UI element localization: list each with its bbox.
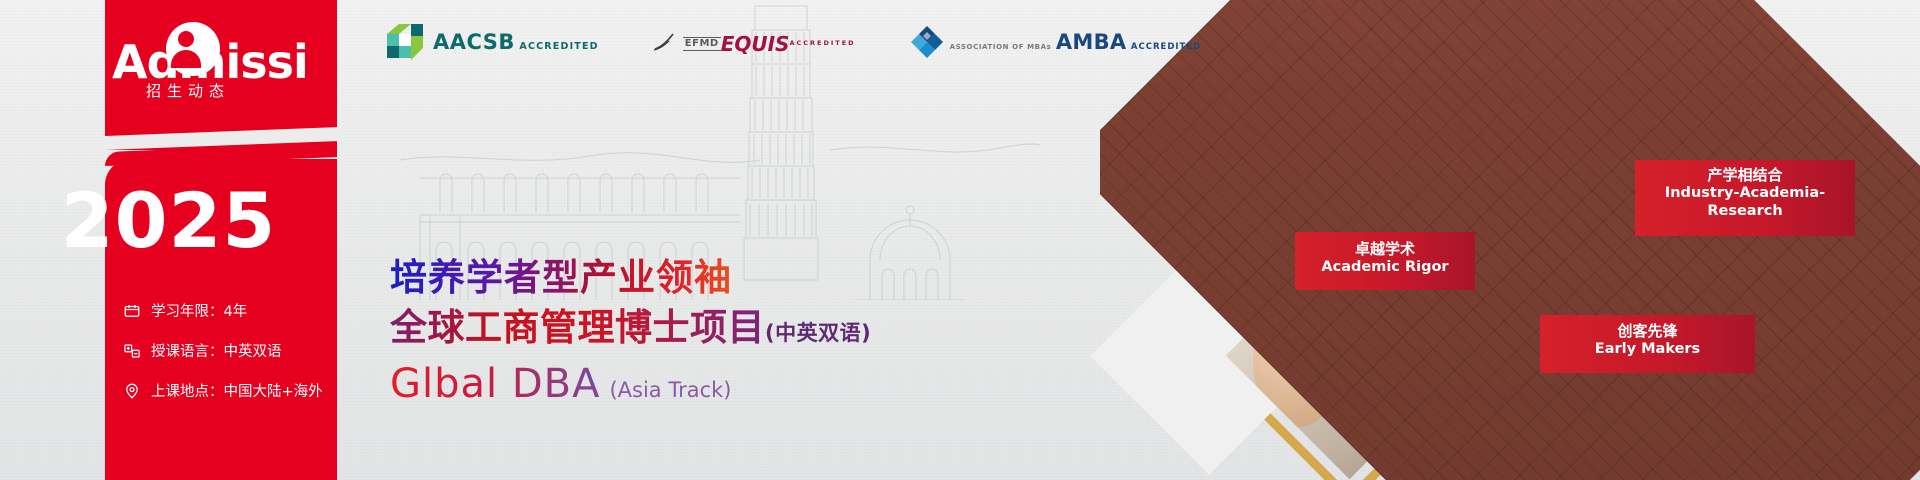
language-icon xyxy=(122,341,142,361)
label-en-early-makers: Early Makers xyxy=(1540,341,1755,359)
label-industry-academia: 产学相结合 Industry-Academia-Research xyxy=(1635,166,1855,221)
headline-program-en: Glbal DBA (Asia Track) xyxy=(390,361,871,407)
location-pin-icon xyxy=(122,381,142,401)
amba-association-label: ASSOCIATION OF MBAs xyxy=(950,43,1052,51)
amba-accredited-label: ACCREDITED xyxy=(1131,42,1201,52)
year-heading: 2025 xyxy=(0,176,337,265)
amba-logo: ASSOCIATION OF MBAs AMBA ACCREDITED xyxy=(910,25,1202,59)
label-en-academic-rigor: Academic Rigor xyxy=(1295,259,1475,277)
person-head-shape xyxy=(178,31,194,47)
headline-asia-track: (Asia Track) xyxy=(609,378,731,402)
aacsb-logo: AACSB ACCREDITED xyxy=(385,22,599,62)
headline-block: 培养学者型产业领袖 全球工商管理博士项目(中英双语) Glbal DBA (As… xyxy=(390,258,871,407)
info-text-location: 上课地点：中国大陆+海外 xyxy=(151,380,323,401)
amba-diamond-icon xyxy=(910,25,944,59)
amba-name: AMBA xyxy=(1056,30,1127,54)
admission-cn-label: 招生动态 xyxy=(146,80,230,101)
efmd-label: EFMD xyxy=(683,37,721,51)
aacsb-mosaic-icon xyxy=(385,22,425,62)
admission-banner: Admissi 招生动态 2025 学习年限：4年 xyxy=(0,0,1920,480)
label-cn-early-makers: 创客先锋 xyxy=(1540,322,1755,340)
info-text-duration: 学习年限：4年 xyxy=(151,300,247,321)
headline-dba: Glbal DBA xyxy=(390,361,600,407)
label-early-makers: 创客先锋 Early Makers xyxy=(1540,322,1755,359)
aacsb-accredited-label: ACCREDITED xyxy=(519,41,598,52)
label-cn-industry: 产学相结合 xyxy=(1635,166,1855,184)
headline-bilingual-note: (中英双语) xyxy=(765,321,871,345)
equis-accredited-label: ACCREDITED xyxy=(789,40,855,47)
info-row-duration: 学习年限：4年 xyxy=(122,300,337,321)
accreditation-logos: AACSB ACCREDITED EFMD EQUIS ACCREDITED xyxy=(385,22,1201,62)
person-circle-icon xyxy=(166,22,220,76)
headline-tagline: 培养学者型产业领袖 xyxy=(390,258,871,298)
info-row-language: 授课语言：中英双语 xyxy=(122,340,337,361)
program-info-list: 学习年限：4年 授课语言：中英双语 上课地点：中国大陆+海外 xyxy=(122,300,337,420)
photo-collage xyxy=(1100,0,1920,480)
label-cn-academic-rigor: 卓越学术 xyxy=(1295,240,1475,258)
label-academic-rigor: 卓越学术 Academic Rigor xyxy=(1295,240,1475,277)
info-row-location: 上课地点：中国大陆+海外 xyxy=(122,380,337,401)
efmd-swoosh-icon xyxy=(653,33,679,51)
headline-program-name: 全球工商管理博士项目 xyxy=(390,306,765,349)
person-body-shape xyxy=(171,50,201,68)
label-en-industry: Industry-Academia-Research xyxy=(1635,185,1855,220)
calendar-icon xyxy=(122,301,142,321)
admission-badge: Admissi 招生动态 xyxy=(112,36,342,116)
brick-wall-backdrop xyxy=(1100,0,1920,480)
equis-name: EQUIS xyxy=(721,34,790,54)
aacsb-name: AACSB xyxy=(433,30,515,54)
info-text-language: 授课语言：中英双语 xyxy=(151,340,282,361)
headline-program-cn: 全球工商管理博士项目(中英双语) xyxy=(390,308,871,349)
equis-logo: EFMD EQUIS ACCREDITED xyxy=(653,31,856,54)
